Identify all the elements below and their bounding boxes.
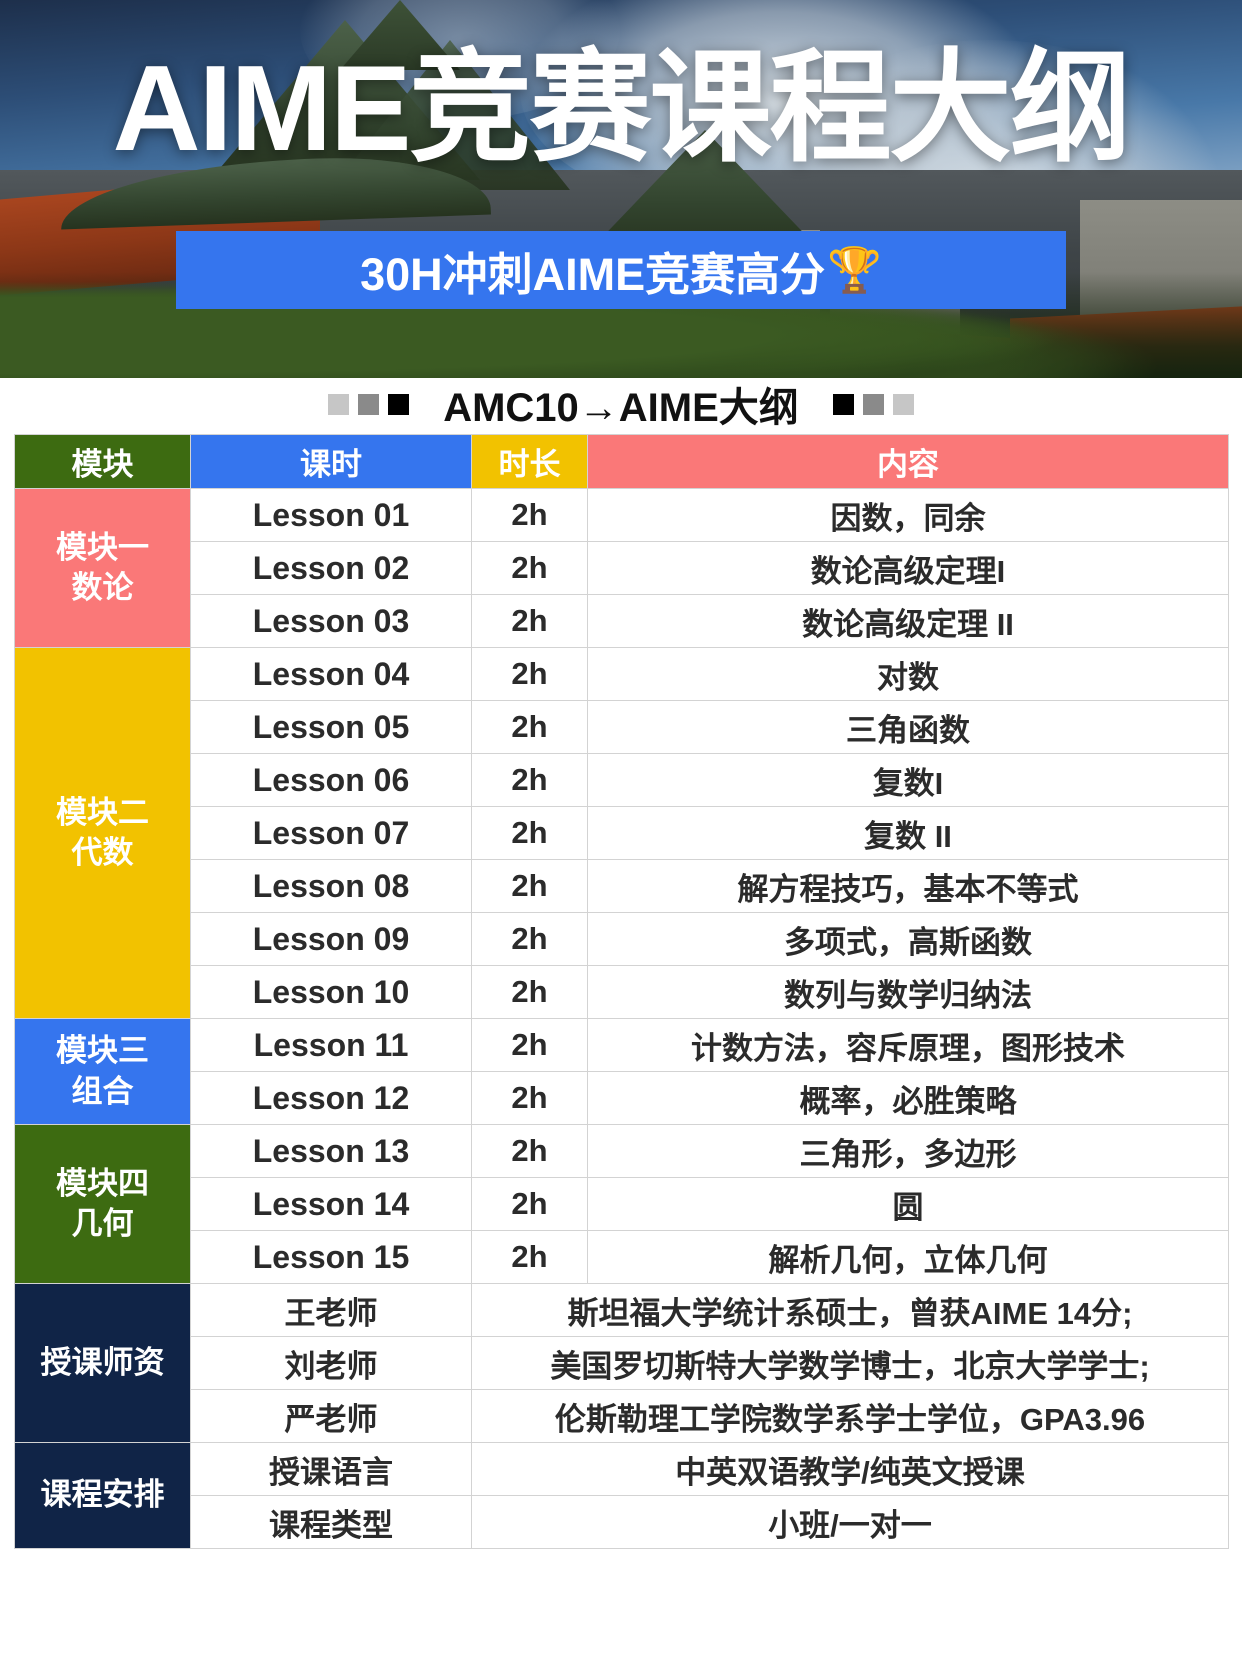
decor-square-icon — [328, 394, 349, 415]
module-label-line2: 数论 — [15, 568, 190, 608]
module-label-cell: 课程安排 — [15, 1443, 191, 1549]
page-title: AIME竞赛课程大纲 — [0, 44, 1242, 173]
lesson-content-cell: 概率，必胜策略 — [588, 1072, 1229, 1125]
lesson-content-cell: 复数I — [588, 754, 1229, 807]
column-header-content: 内容 — [588, 435, 1229, 489]
hero-subtitle-banner: 30H冲刺AIME竞赛高分 🏆 — [176, 231, 1066, 309]
table-row: 模块三组合Lesson 112h计数方法，容斥原理，图形技术 — [15, 1019, 1229, 1072]
schedule-label-cell: 授课语言 — [191, 1443, 472, 1496]
table-row: 模块一数论Lesson 012h因数，同余 — [15, 489, 1229, 542]
column-header-duration: 时长 — [472, 435, 588, 489]
teacher-name-cell: 刘老师 — [191, 1337, 472, 1390]
table-row: 模块二代数Lesson 042h对数 — [15, 648, 1229, 701]
teacher-bio-cell: 斯坦福大学统计系硕士，曾获AIME 14分; — [472, 1284, 1229, 1337]
lesson-name-cell: Lesson 04 — [191, 648, 472, 701]
table-header-row: 模块 课时 时长 内容 — [15, 435, 1229, 489]
lesson-duration-cell: 2h — [472, 966, 588, 1019]
table-row: 严老师伦斯勒理工学院数学系学士学位，GPA3.96 — [15, 1390, 1229, 1443]
lesson-content-cell: 数论高级定理I — [588, 542, 1229, 595]
table-row: Lesson 022h数论高级定理I — [15, 542, 1229, 595]
lesson-content-cell: 数列与数学归纳法 — [588, 966, 1229, 1019]
decor-square-icon — [863, 394, 884, 415]
module-label-cell: 模块一数论 — [15, 489, 191, 648]
table-row: 模块四几何Lesson 132h三角形，多边形 — [15, 1125, 1229, 1178]
lesson-name-cell: Lesson 06 — [191, 754, 472, 807]
column-header-lesson: 课时 — [191, 435, 472, 489]
table-header: 模块 课时 时长 内容 — [15, 435, 1229, 489]
lesson-content-cell: 对数 — [588, 648, 1229, 701]
section-heading: AMC10→AIME大纲 — [0, 378, 1242, 430]
hero-banner-section: AIME竞赛课程大纲 30H冲刺AIME竞赛高分 🏆 — [0, 0, 1242, 378]
lesson-duration-cell: 2h — [472, 1231, 588, 1284]
lesson-content-cell: 解析几何，立体几何 — [588, 1231, 1229, 1284]
lesson-content-cell: 计数方法，容斥原理，图形技术 — [588, 1019, 1229, 1072]
decor-squares-right — [833, 394, 914, 415]
lesson-duration-cell: 2h — [472, 489, 588, 542]
module-label-line1: 模块四 — [15, 1164, 190, 1204]
lesson-duration-cell: 2h — [472, 648, 588, 701]
table-row: Lesson 052h三角函数 — [15, 701, 1229, 754]
module-label-line1: 模块二 — [15, 793, 190, 833]
module-label-line1: 模块一 — [15, 528, 190, 568]
lesson-name-cell: Lesson 10 — [191, 966, 472, 1019]
module-label-line2: 代数 — [15, 833, 190, 873]
schedule-label-cell: 课程类型 — [191, 1496, 472, 1549]
module-label-cell: 模块二代数 — [15, 648, 191, 1019]
lesson-name-cell: Lesson 02 — [191, 542, 472, 595]
table-row: Lesson 122h概率，必胜策略 — [15, 1072, 1229, 1125]
teacher-name-cell: 严老师 — [191, 1390, 472, 1443]
table-body: 模块一数论Lesson 012h因数，同余Lesson 022h数论高级定理IL… — [15, 489, 1229, 1549]
module-label-line2: 几何 — [15, 1204, 190, 1244]
teacher-bio-cell: 美国罗切斯特大学数学博士，北京大学学士; — [472, 1337, 1229, 1390]
lesson-content-cell: 数论高级定理 II — [588, 595, 1229, 648]
teacher-bio-cell: 伦斯勒理工学院数学系学士学位，GPA3.96 — [472, 1390, 1229, 1443]
decor-squares-left — [328, 394, 409, 415]
table-row: 授课师资王老师斯坦福大学统计系硕士，曾获AIME 14分; — [15, 1284, 1229, 1337]
lesson-duration-cell: 2h — [472, 542, 588, 595]
table-row: Lesson 062h复数I — [15, 754, 1229, 807]
decor-square-icon — [833, 394, 854, 415]
schedule-value-cell: 中英双语教学/纯英文授课 — [472, 1443, 1229, 1496]
lesson-content-cell: 三角函数 — [588, 701, 1229, 754]
lesson-name-cell: Lesson 11 — [191, 1019, 472, 1072]
lesson-content-cell: 三角形，多边形 — [588, 1125, 1229, 1178]
lesson-duration-cell: 2h — [472, 807, 588, 860]
lesson-content-cell: 多项式，高斯函数 — [588, 913, 1229, 966]
lesson-name-cell: Lesson 03 — [191, 595, 472, 648]
lesson-duration-cell: 2h — [472, 1125, 588, 1178]
schedule-value-cell: 小班/一对一 — [472, 1496, 1229, 1549]
table-row: 课程类型小班/一对一 — [15, 1496, 1229, 1549]
table-row: Lesson 082h解方程技巧，基本不等式 — [15, 860, 1229, 913]
table-row: Lesson 092h多项式，高斯函数 — [15, 913, 1229, 966]
lesson-duration-cell: 2h — [472, 1178, 588, 1231]
lesson-name-cell: Lesson 12 — [191, 1072, 472, 1125]
lesson-name-cell: Lesson 13 — [191, 1125, 472, 1178]
lesson-name-cell: Lesson 09 — [191, 913, 472, 966]
table-row: Lesson 152h解析几何，立体几何 — [15, 1231, 1229, 1284]
decor-square-icon — [388, 394, 409, 415]
lesson-duration-cell: 2h — [472, 1019, 588, 1072]
lesson-duration-cell: 2h — [472, 860, 588, 913]
module-label-cell: 授课师资 — [15, 1284, 191, 1443]
lesson-name-cell: Lesson 14 — [191, 1178, 472, 1231]
lesson-name-cell: Lesson 15 — [191, 1231, 472, 1284]
lesson-duration-cell: 2h — [472, 701, 588, 754]
lesson-duration-cell: 2h — [472, 913, 588, 966]
lesson-content-cell: 圆 — [588, 1178, 1229, 1231]
column-header-module: 模块 — [15, 435, 191, 489]
table-row: Lesson 142h圆 — [15, 1178, 1229, 1231]
module-label-cell: 模块四几何 — [15, 1125, 191, 1284]
lesson-content-cell: 复数 II — [588, 807, 1229, 860]
table-row: 刘老师美国罗切斯特大学数学博士，北京大学学士; — [15, 1337, 1229, 1390]
lesson-name-cell: Lesson 07 — [191, 807, 472, 860]
table-row: Lesson 102h数列与数学归纳法 — [15, 966, 1229, 1019]
lesson-name-cell: Lesson 08 — [191, 860, 472, 913]
module-label-line2: 组合 — [15, 1072, 190, 1112]
module-label-line1: 模块三 — [15, 1031, 190, 1071]
lesson-content-cell: 解方程技巧，基本不等式 — [588, 860, 1229, 913]
table-row: Lesson 032h数论高级定理 II — [15, 595, 1229, 648]
table-row: Lesson 072h复数 II — [15, 807, 1229, 860]
lesson-duration-cell: 2h — [472, 754, 588, 807]
lesson-duration-cell: 2h — [472, 595, 588, 648]
decor-square-icon — [893, 394, 914, 415]
module-label-cell: 模块三组合 — [15, 1019, 191, 1125]
hero-subtitle-text: 30H冲刺AIME竞赛高分 — [360, 238, 825, 303]
teacher-name-cell: 王老师 — [191, 1284, 472, 1337]
lesson-name-cell: Lesson 05 — [191, 701, 472, 754]
lesson-name-cell: Lesson 01 — [191, 489, 472, 542]
lesson-duration-cell: 2h — [472, 1072, 588, 1125]
lesson-content-cell: 因数，同余 — [588, 489, 1229, 542]
section-title-text: AMC10→AIME大纲 — [427, 375, 815, 433]
curriculum-table: 模块 课时 时长 内容 模块一数论Lesson 012h因数，同余Lesson … — [14, 434, 1229, 1549]
trophy-icon: 🏆 — [827, 244, 882, 296]
table-row: 课程安排授课语言中英双语教学/纯英文授课 — [15, 1443, 1229, 1496]
decor-square-icon — [358, 394, 379, 415]
